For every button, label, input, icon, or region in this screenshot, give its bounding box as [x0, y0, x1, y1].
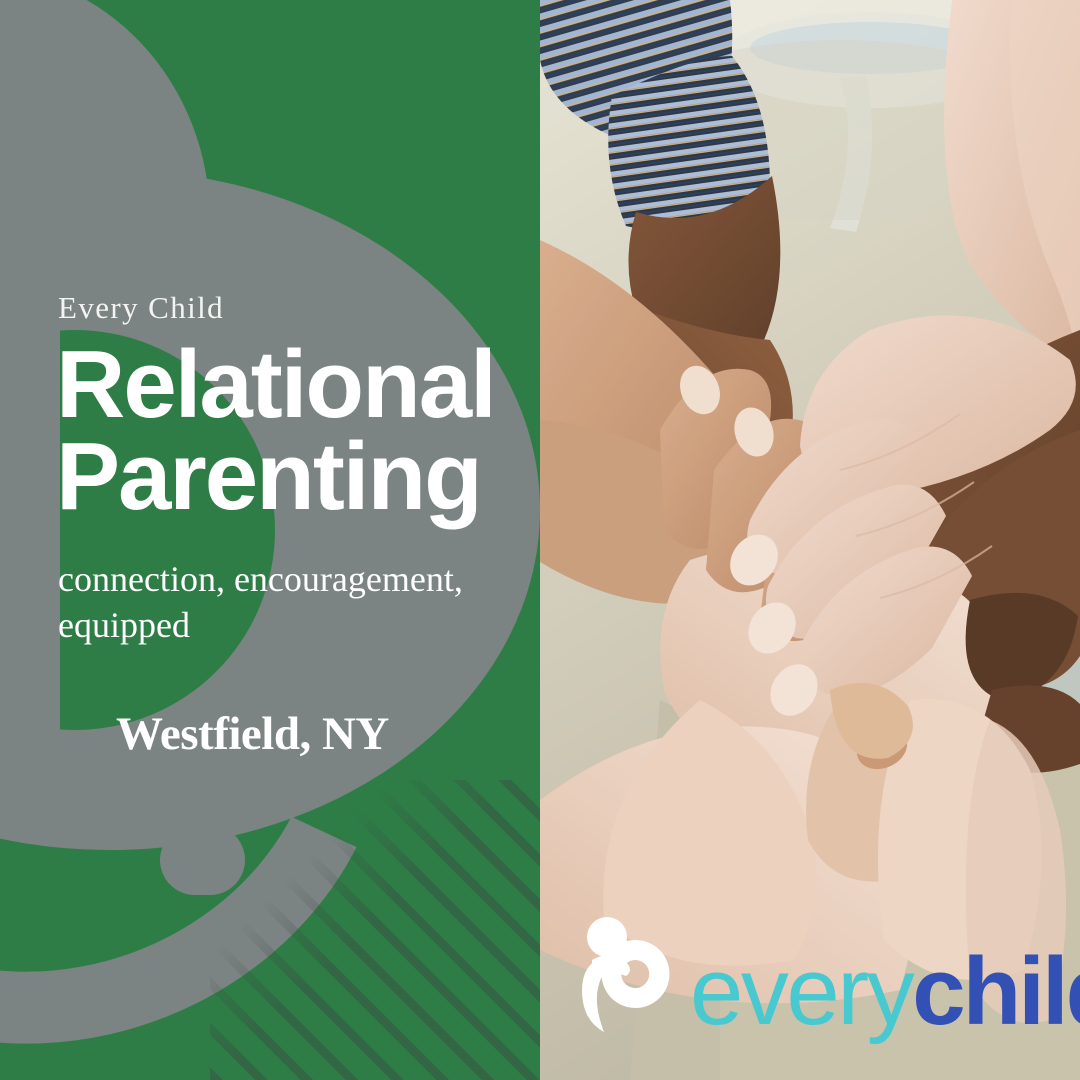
- parent-and-child-icon: [574, 916, 674, 1032]
- page-title: Relational Parenting: [56, 339, 496, 523]
- headline-line-2: Parenting: [56, 431, 496, 523]
- everychild-logo[interactable]: every child: [574, 916, 1080, 1032]
- decorative-left-fill: [0, 0, 60, 790]
- green-text-panel: Every Child Relational Parenting connect…: [0, 0, 540, 1080]
- eyebrow-text: Every Child: [58, 292, 496, 323]
- logo-word-every: every: [690, 953, 912, 1032]
- logo-wordmark: every child: [690, 953, 1080, 1032]
- headline-line-1: Relational: [56, 339, 496, 431]
- photo-panel: every child: [540, 0, 1080, 1080]
- logo-word-child: child: [912, 953, 1080, 1032]
- social-graphic-poster: Every Child Relational Parenting connect…: [0, 0, 1080, 1080]
- headline-block: Every Child Relational Parenting connect…: [56, 292, 496, 761]
- diagonal-stripe-pattern: [210, 780, 540, 1080]
- tagline-text: connection, encouragement, equipped: [58, 557, 503, 648]
- location-text: Westfield, NY: [116, 707, 496, 761]
